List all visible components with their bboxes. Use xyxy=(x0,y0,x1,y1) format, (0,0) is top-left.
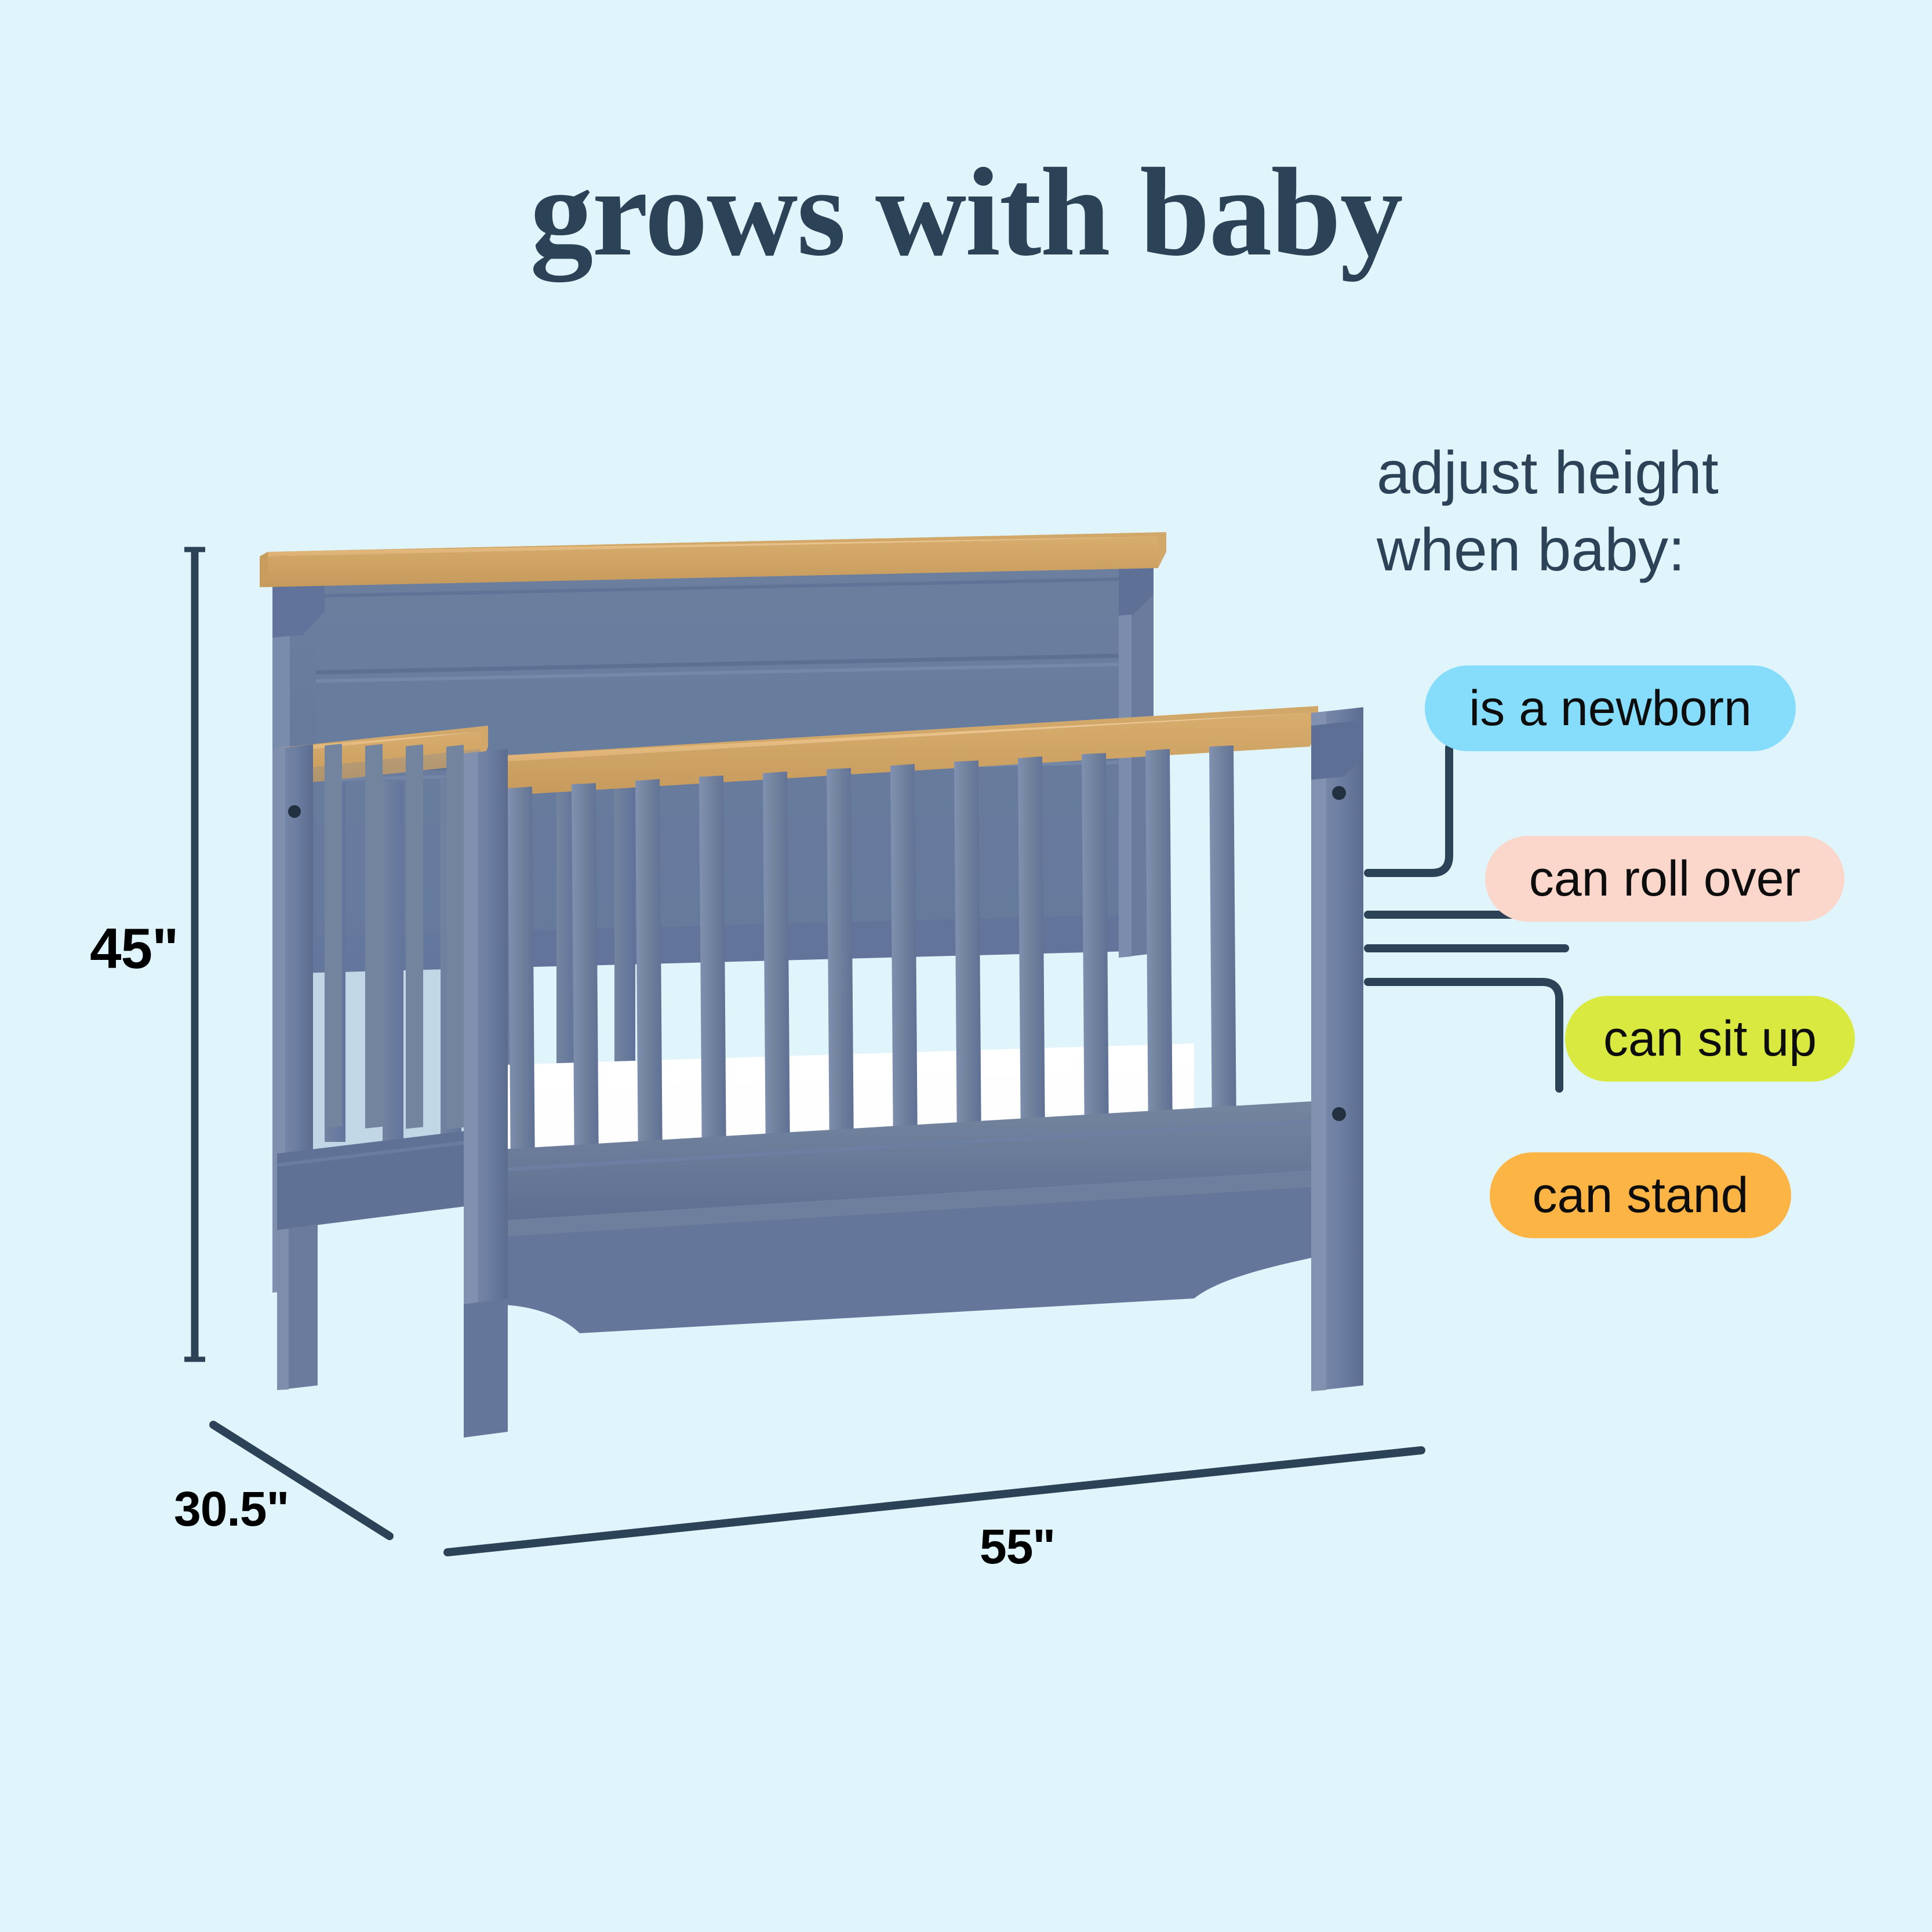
callout-pill-label: can sit up xyxy=(1603,1010,1817,1068)
callout-connectors xyxy=(0,0,1932,1932)
callout-pill-label: can roll over xyxy=(1529,850,1800,908)
callout-pill-can-stand[interactable]: can stand xyxy=(1490,1152,1791,1238)
infographic-canvas: grows with baby xyxy=(0,0,1932,1932)
connector-can-stand xyxy=(1368,982,1559,1089)
callout-pill-can-sit-up[interactable]: can sit up xyxy=(1565,996,1855,1082)
callout-pill-is-a-newborn[interactable]: is a newborn xyxy=(1425,665,1796,751)
callout-pill-label: can stand xyxy=(1533,1167,1749,1224)
connector-newborn xyxy=(1368,748,1449,873)
callout-pill-can-roll-over[interactable]: can roll over xyxy=(1485,836,1844,922)
callout-pill-label: is a newborn xyxy=(1469,680,1752,737)
